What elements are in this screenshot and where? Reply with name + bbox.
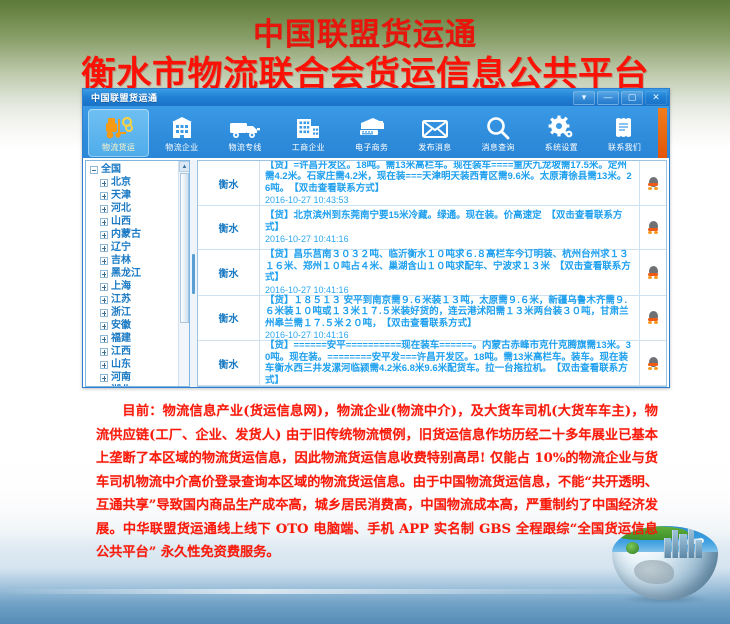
qq-icon[interactable] xyxy=(648,177,659,190)
truck-icon xyxy=(229,113,261,141)
toolbar-label: 联系我们 xyxy=(608,142,641,153)
toolbar-item-logistics-company[interactable]: 物流企业 xyxy=(151,109,212,157)
expand-icon[interactable] xyxy=(100,270,108,278)
tree-node-shanxi[interactable]: 山西 xyxy=(89,215,189,228)
tree-node-label: 河北 xyxy=(111,202,131,215)
toolbar-label: 系统设置 xyxy=(545,142,578,153)
window-title: 中国联盟货运通 xyxy=(83,91,158,104)
expand-icon[interactable] xyxy=(100,335,108,343)
row-message: 【货】１８５１３ 安平到南京需９.６米装１３吨，太原需９.６米，新疆乌鲁木齐需９… xyxy=(265,295,635,330)
qq-icon[interactable] xyxy=(648,221,659,234)
expand-icon[interactable] xyxy=(100,374,108,382)
row-city: 衡水 xyxy=(198,206,260,249)
toolbar-item-ecommerce[interactable]: 电子商务 xyxy=(341,109,402,157)
row-contact[interactable] xyxy=(640,161,666,205)
tree-node-label: 福建 xyxy=(111,332,131,345)
row-city: 衡水 xyxy=(198,296,260,340)
expand-icon[interactable] xyxy=(100,231,108,239)
row-contact[interactable] xyxy=(640,296,666,340)
expand-icon[interactable] xyxy=(100,244,108,252)
scroll-up-icon[interactable]: ▲ xyxy=(179,161,190,172)
toolbar-label: 电子商务 xyxy=(355,142,388,153)
row-message: 【货】======安平==========现在装车======。内蒙古赤峰市克什… xyxy=(265,340,635,386)
maximize-icon[interactable]: ▢ xyxy=(621,91,643,105)
tree-node-label: 黑龙江 xyxy=(111,267,141,280)
region-tree: 全国 北京 天津 河北 山西 内蒙古 辽宁 吉林 黑龙江 上海 江苏 浙江 安徽… xyxy=(86,161,189,387)
row-contact[interactable] xyxy=(640,341,666,385)
tree-node-label: 内蒙古 xyxy=(111,228,141,241)
paragraph-text: 目前：物流信息产业(货运信息网)，物流企业(物流中介)，及大货车司机(大货车车主… xyxy=(96,400,658,565)
tree-node-neimenggu[interactable]: 内蒙古 xyxy=(89,228,189,241)
expand-icon[interactable] xyxy=(100,361,108,369)
dropdown-icon[interactable]: ▾ xyxy=(573,91,595,105)
promo-paragraph: 目前：物流信息产业(货运信息网)，物流企业(物流中介)，及大货车司机(大货车车主… xyxy=(96,400,658,565)
expand-icon[interactable] xyxy=(100,218,108,226)
tree-node-beijing[interactable]: 北京 xyxy=(89,176,189,189)
toolbar-label: 发布消息 xyxy=(418,142,451,153)
row-content: 【货】=许昌开发区。18吨。需13米高栏车。现在装车====重庆九龙坡需17.5… xyxy=(260,161,640,205)
minimize-icon[interactable]: — xyxy=(597,91,619,105)
toolbar-item-logistics-line[interactable]: 物流专线 xyxy=(215,109,276,157)
row-message: 【货】=许昌开发区。18吨。需13米高栏车。现在装车====重庆九龙坡需17.5… xyxy=(265,160,635,194)
poster-page: 中国联盟货运通 衡水市物流联合会货运信息公共平台 中国联盟货运通 ▾ — ▢ ✕ xyxy=(0,0,730,624)
tree-node-label: 辽宁 xyxy=(111,241,131,254)
row-content: 【货】======安平==========现在装车======。内蒙古赤峰市克什… xyxy=(260,341,640,385)
toolbar-item-logistics-freight[interactable]: 物流货运 xyxy=(88,109,149,157)
toolbar-label: 物流专线 xyxy=(229,142,262,153)
toolbar-item-publish-message[interactable]: 发布消息 xyxy=(404,109,465,157)
tree-node-jilin[interactable]: 吉林 xyxy=(89,254,189,267)
row-content: 【货】北京滨州到东莞南宁要15米冷藏。绿通。现在装。价高速定 【双击查看联系方式… xyxy=(260,206,640,249)
window-titlebar[interactable]: 中国联盟货运通 ▾ — ▢ ✕ xyxy=(83,89,669,106)
tree-node-label: 北京 xyxy=(111,176,131,189)
toolbar-item-system-settings[interactable]: 系统设置 xyxy=(531,109,592,157)
tree-node-liaoning[interactable]: 辽宁 xyxy=(89,241,189,254)
tree-node-hebei[interactable]: 河北 xyxy=(89,202,189,215)
tree-node-label: 天津 xyxy=(111,189,131,202)
expand-icon[interactable] xyxy=(100,257,108,265)
office-icon xyxy=(294,113,322,141)
ecommerce-icon xyxy=(357,113,387,141)
tree-node-heilongjiang[interactable]: 黑龙江 xyxy=(89,267,189,280)
row-city: 衡水 xyxy=(198,250,260,294)
tree-node-label: 浙江 xyxy=(111,306,131,319)
headline-line-1: 中国联盟货运通 xyxy=(0,16,730,54)
expand-icon[interactable] xyxy=(100,387,108,388)
tree-node-label: 安徽 xyxy=(111,319,131,332)
tree-node-label: 山东 xyxy=(111,358,131,371)
sidebar-scrollbar[interactable]: ▲ xyxy=(178,161,189,386)
tree-node-root[interactable]: 全国 xyxy=(89,163,189,176)
tree-node-zhejiang[interactable]: 浙江 xyxy=(89,306,189,319)
poster-headline: 中国联盟货运通 衡水市物流联合会货运信息公共平台 xyxy=(0,16,730,96)
tree-node-fujian[interactable]: 福建 xyxy=(89,332,189,345)
tree-node-label: 江苏 xyxy=(111,293,131,306)
forklift-icon xyxy=(104,113,134,141)
row-city: 衡水 xyxy=(198,341,260,385)
toolbar-divider xyxy=(658,108,667,158)
city-skyline-icon xyxy=(664,528,708,558)
tree-node-label: 江西 xyxy=(111,345,131,358)
tree-node-anhui[interactable]: 安徽 xyxy=(89,319,189,332)
panel-splitter[interactable] xyxy=(190,160,197,387)
row-city: 衡水 xyxy=(198,161,260,205)
expand-icon[interactable] xyxy=(100,179,108,187)
tree-node-jiangxi[interactable]: 江西 xyxy=(89,345,189,358)
qq-icon[interactable] xyxy=(648,266,659,279)
building-icon xyxy=(169,113,195,141)
row-timestamp: 2016-10-27 10:41:16 xyxy=(265,233,635,245)
tree-node-henan[interactable]: 河南 xyxy=(89,371,189,384)
expand-icon[interactable] xyxy=(100,283,108,291)
collapse-icon[interactable] xyxy=(90,166,98,174)
row-contact[interactable] xyxy=(640,250,666,294)
document-icon xyxy=(613,113,637,141)
tree-node-label: 吉林 xyxy=(111,254,131,267)
expand-icon[interactable] xyxy=(100,296,108,304)
expand-icon[interactable] xyxy=(100,309,108,317)
qq-icon[interactable] xyxy=(648,311,659,324)
tree-node-hubei[interactable]: 湖北 xyxy=(89,384,189,387)
expand-icon[interactable] xyxy=(100,192,108,200)
toolbar-item-message-query[interactable]: 消息查询 xyxy=(468,109,529,157)
tree-node-label: 山西 xyxy=(111,215,131,228)
tree-node-label: 上海 xyxy=(111,280,131,293)
toolbar-label: 物流企业 xyxy=(165,142,198,153)
window-controls: ▾ — ▢ ✕ xyxy=(573,89,667,106)
toolbar-item-contact-us[interactable]: 联系我们 xyxy=(594,109,655,157)
expand-icon[interactable] xyxy=(100,205,108,213)
main-toolbar: 物流货运 物流企业 xyxy=(83,106,669,158)
gear-icon xyxy=(547,113,575,141)
row-message: 【货】北京滨州到东莞南宁要15米冷藏。绿通。现在装。价高速定 【双击查看联系方式… xyxy=(265,210,635,233)
row-content: 【货】１８５１３ 安平到南京需９.６米装１３吨，太原需９.６米，新疆乌鲁木齐需９… xyxy=(260,296,640,340)
table-row[interactable]: 衡水 【货】北京滨州到东莞南宁要15米冷藏。绿通。现在装。价高速定 【双击查看联… xyxy=(198,206,666,250)
tree-node-label: 河南 xyxy=(111,371,131,384)
tree-node-label: 湖北 xyxy=(111,384,131,387)
table-row[interactable]: 衡水 【货】１８５１３ 安平到南京需９.６米装１３吨，太原需９.６米，新疆乌鲁木… xyxy=(198,296,666,341)
expand-icon[interactable] xyxy=(100,322,108,330)
expand-icon[interactable] xyxy=(100,348,108,356)
envelope-icon xyxy=(420,113,450,141)
table-row[interactable]: 衡水 【货】=许昌开发区。18吨。需13米高栏车。现在装车====重庆九龙坡需1… xyxy=(198,161,666,206)
qq-icon[interactable] xyxy=(648,357,659,370)
toolbar-label: 工商企业 xyxy=(292,142,325,153)
tree-node-jiangsu[interactable]: 江苏 xyxy=(89,293,189,306)
tree-node-label: 全国 xyxy=(101,163,121,176)
tree-node-shanghai[interactable]: 上海 xyxy=(89,280,189,293)
close-icon[interactable]: ✕ xyxy=(645,91,667,105)
region-tree-sidebar: 全国 北京 天津 河北 山西 内蒙古 辽宁 吉林 黑龙江 上海 江苏 浙江 安徽… xyxy=(85,160,190,387)
row-contact[interactable] xyxy=(640,206,666,249)
freight-message-list: 衡水 【货】=许昌开发区。18吨。需13米高栏车。现在装车====重庆九龙坡需1… xyxy=(197,160,667,387)
toolbar-label: 消息查询 xyxy=(482,142,515,153)
row-message: 【货】昌乐莒南３０３２吨、临沂衡水１０吨求６.８高栏车今订明装、杭州台州求１３１… xyxy=(265,249,635,284)
toolbar-label: 物流货运 xyxy=(102,142,135,153)
scrollbar-thumb[interactable] xyxy=(180,173,189,323)
table-row[interactable]: 衡水 【货】======安平==========现在装车======。内蒙古赤峰… xyxy=(198,341,666,386)
row-content: 【货】昌乐莒南３０３２吨、临沂衡水１０吨求６.８高栏车今订明装、杭州台州求１３１… xyxy=(260,250,640,294)
toolbar-item-industry-company[interactable]: 工商企业 xyxy=(278,109,339,157)
tree-node-shandong[interactable]: 山东 xyxy=(89,358,189,371)
table-row[interactable]: 衡水 【货】昌乐莒南３０３２吨、临沂衡水１０吨求６.８高栏车今订明装、杭州台州求… xyxy=(198,250,666,295)
row-timestamp: 2016-10-27 10:43:53 xyxy=(265,194,635,206)
search-icon xyxy=(485,113,511,141)
window-body: 全国 北京 天津 河北 山西 内蒙古 辽宁 吉林 黑龙江 上海 江苏 浙江 安徽… xyxy=(83,158,669,388)
tree-node-tianjin[interactable]: 天津 xyxy=(89,189,189,202)
application-window: 中国联盟货运通 ▾ — ▢ ✕ xyxy=(82,88,670,388)
